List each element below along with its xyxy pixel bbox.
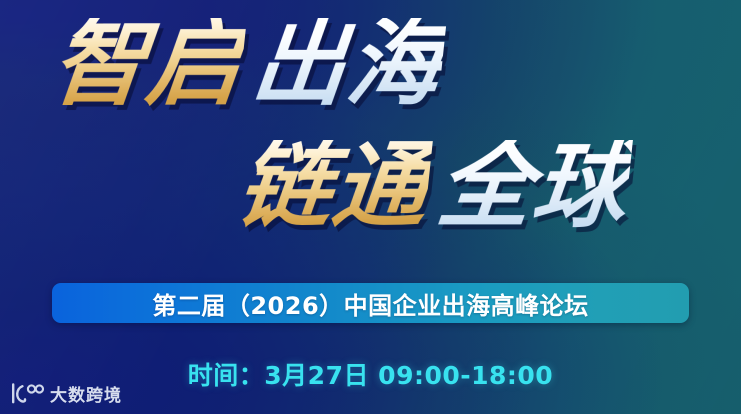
headline-line-2: 链通 全球 [238,140,628,234]
watermark-text: 大数跨境 [50,381,122,406]
headline-line-1: 智启 出海 [52,18,442,112]
event-poster: 智启 出海 链通 全球 第二届（2026）中国企业出海高峰论坛 时间：3月27日… [0,0,741,414]
watermark-logo: 大数跨境 [10,381,122,406]
headline: 智启 出海 链通 全球 [0,12,741,262]
subtitle-text: 第二届（2026）中国企业出海高峰论坛 [152,286,588,321]
headline-word-zhiqi: 智启 [47,18,247,112]
headline-word-liantong: 链通 [233,140,433,234]
subtitle-bar: 第二届（2026）中国企业出海高峰论坛 [52,283,689,323]
event-time-text: 时间：3月27日 09:00-18:00 [188,361,553,390]
headline-word-quanqiu: 全球 [433,140,633,234]
dashuji-logo-icon [10,383,44,404]
headline-word-chuhai: 出海 [247,18,447,112]
